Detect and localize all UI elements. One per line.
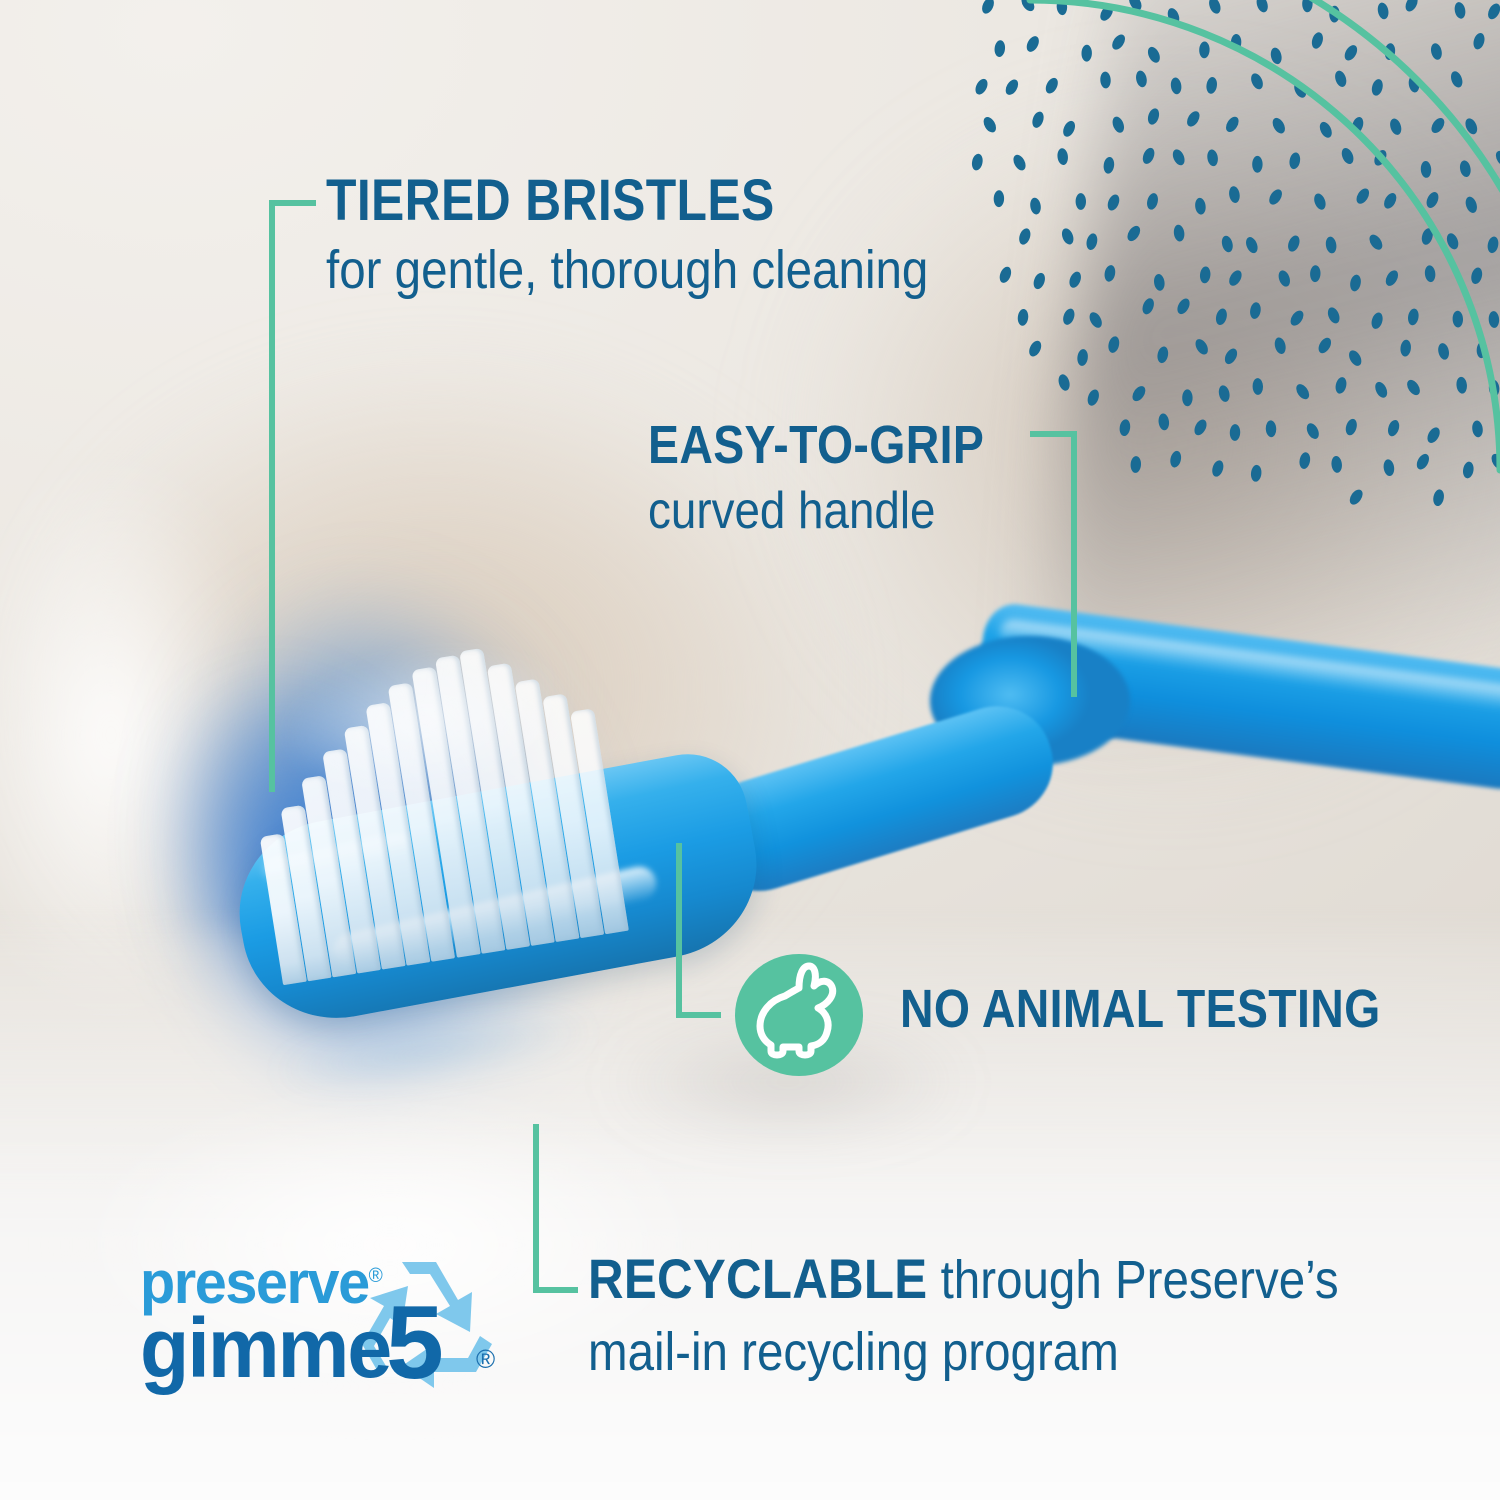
decorative-dot xyxy=(1265,420,1276,437)
decorative-dot xyxy=(1325,236,1338,254)
decorative-dot xyxy=(1310,265,1321,282)
recyclable-rest: through Preserve’s xyxy=(927,1250,1338,1310)
decorative-dot xyxy=(1003,77,1021,97)
decorative-dot xyxy=(1184,109,1202,129)
callout-subline: curved handle xyxy=(648,484,992,539)
logo-registered-top: ® xyxy=(369,1265,382,1287)
decorative-dot xyxy=(1061,119,1078,139)
decorative-dot xyxy=(1334,376,1348,395)
decorative-dot xyxy=(1404,378,1422,398)
decorative-dot xyxy=(1424,265,1436,283)
decorative-dot xyxy=(1119,419,1132,437)
logo-registered-bottom: ® xyxy=(476,1344,495,1375)
recyclable-line-2: mail-in recycling program xyxy=(588,1321,1339,1383)
decorative-dot xyxy=(1222,346,1239,366)
decorative-dot xyxy=(1076,193,1087,210)
decorative-dot xyxy=(1429,42,1443,61)
decorative-dot xyxy=(1110,32,1128,52)
decorative-dot xyxy=(1199,266,1211,284)
decorative-dot xyxy=(1017,309,1029,327)
decorative-dot xyxy=(1342,43,1360,63)
decorative-dot xyxy=(1344,418,1359,437)
decorative-dot xyxy=(1229,424,1240,441)
decorative-dot xyxy=(1206,149,1219,167)
decorative-dot xyxy=(1057,373,1072,392)
decorative-dot xyxy=(1403,0,1420,13)
decorative-dot xyxy=(1170,77,1183,95)
decorative-dot xyxy=(1288,308,1306,328)
decorative-dot xyxy=(1437,342,1451,361)
decorative-dot xyxy=(1227,268,1245,288)
decorative-dot xyxy=(1326,306,1342,326)
decorative-dot xyxy=(1145,192,1159,211)
decorative-dot xyxy=(1207,0,1223,15)
decorative-dot xyxy=(1043,76,1060,96)
decorative-dot xyxy=(1205,76,1218,94)
callout-subline: for gentle, thorough cleaning xyxy=(326,242,928,299)
decorative-dot xyxy=(1373,380,1390,400)
decorative-dot xyxy=(1249,301,1262,319)
callout-headline: EASY-TO-GRIP xyxy=(648,418,984,472)
decorative-dot xyxy=(1449,70,1465,89)
decorative-dot xyxy=(1462,461,1475,479)
decorative-dot xyxy=(1060,227,1076,246)
decorative-dot xyxy=(994,40,1006,58)
callout-no-animal-testing: NO ANIMAL TESTING xyxy=(900,982,1459,1036)
decorative-dot xyxy=(1383,268,1400,288)
callout-easy-to-grip: EASY-TO-GRIP curved handle xyxy=(648,418,1039,539)
decorative-dot xyxy=(980,0,996,16)
decorative-dot xyxy=(1169,450,1183,469)
decorative-dot xyxy=(1302,0,1313,12)
decorative-dot xyxy=(1158,413,1170,431)
decorative-dot xyxy=(1331,455,1343,473)
decorative-dot xyxy=(1017,227,1032,246)
product-infographic: TIERED BRISTLES for gentle, thorough cle… xyxy=(0,0,1500,1500)
decorative-dot xyxy=(1175,296,1192,316)
logo-numeral-five: 5 xyxy=(386,1284,444,1403)
decorative-dot xyxy=(1027,339,1044,359)
decorative-dot xyxy=(1382,191,1399,211)
decorative-dot xyxy=(1432,488,1445,506)
decorative-dot xyxy=(1141,146,1157,166)
decorative-dot xyxy=(1173,224,1186,242)
decorative-dot xyxy=(1024,34,1041,54)
decorative-dot xyxy=(1081,45,1092,62)
decorative-dot xyxy=(1493,149,1500,169)
decorative-dot xyxy=(1472,32,1487,51)
decorative-dot xyxy=(1130,456,1141,473)
decorative-dot xyxy=(1255,0,1270,14)
decorative-dot xyxy=(1087,310,1104,330)
callout-headline: NO ANIMAL TESTING xyxy=(900,982,1381,1036)
decorative-dot xyxy=(1252,156,1262,173)
decorative-dot xyxy=(971,153,984,172)
decorative-dot xyxy=(1110,115,1126,134)
decorative-dot xyxy=(1217,384,1231,403)
decorative-dot xyxy=(1252,378,1263,395)
decorative-dot xyxy=(1333,69,1348,88)
decorative-dot xyxy=(1103,156,1116,174)
decorative-dot xyxy=(1086,388,1101,407)
decorative-dot xyxy=(1347,487,1365,507)
decorative-dot xyxy=(1456,376,1468,394)
decorative-dot xyxy=(1029,197,1042,215)
decorative-dot xyxy=(1182,389,1192,406)
decorative-dot xyxy=(1277,269,1293,288)
decorative-dot xyxy=(1106,193,1122,212)
decorative-dot xyxy=(1085,232,1099,251)
decorative-dot xyxy=(1156,346,1169,365)
callout-recyclable: RECYCLABLE through Preserve’s mail-in re… xyxy=(588,1246,1441,1383)
decorative-dot xyxy=(1317,120,1334,140)
decorative-dot xyxy=(1414,452,1431,472)
decorative-dot xyxy=(1429,116,1447,136)
decorative-dot xyxy=(1107,335,1121,354)
decorative-dot xyxy=(1067,270,1083,289)
decorative-dot xyxy=(1153,273,1166,291)
decorative-dot xyxy=(1030,110,1045,129)
decorative-dot xyxy=(1488,311,1499,328)
decorative-dot xyxy=(1424,190,1441,210)
decorative-dot xyxy=(1294,382,1312,402)
decorative-dot xyxy=(1288,152,1301,170)
decorative-dot xyxy=(1210,459,1225,478)
decorative-dot xyxy=(1125,224,1143,244)
recyclable-line-1: RECYCLABLE through Preserve’s xyxy=(588,1246,1339,1311)
decorative-dot xyxy=(1140,297,1156,316)
decorative-dot xyxy=(1270,116,1287,136)
decorative-dot xyxy=(1193,337,1210,357)
decorative-dot xyxy=(1370,311,1385,330)
callout-tiered-bristles: TIERED BRISTLES for gentle, thorough cle… xyxy=(326,172,1011,299)
decorative-dot xyxy=(1339,146,1355,166)
decorative-dot xyxy=(1194,197,1206,215)
decorative-dot xyxy=(1273,336,1287,355)
decorative-dot xyxy=(1214,307,1228,326)
decorative-dot xyxy=(1376,2,1390,21)
decorative-dot xyxy=(1471,420,1484,438)
decorative-dot xyxy=(1032,271,1047,290)
decorative-dot xyxy=(1354,186,1372,206)
decorative-dot xyxy=(1420,161,1431,178)
decorative-dot xyxy=(1486,236,1499,255)
decorative-dot xyxy=(1220,235,1234,254)
toothbrush-reflection xyxy=(224,984,756,1175)
decorative-dot xyxy=(1286,234,1302,253)
decorative-dot xyxy=(1470,266,1484,285)
decorative-dot xyxy=(1061,307,1076,326)
decorative-dot xyxy=(1464,195,1479,214)
decorative-dot xyxy=(1304,421,1321,441)
decorative-dot xyxy=(1386,418,1401,437)
decorative-dot xyxy=(1316,336,1334,356)
decorative-dot xyxy=(1453,1,1466,19)
decorative-dot xyxy=(1407,308,1420,326)
decorative-dot xyxy=(1171,148,1187,168)
decorative-dot xyxy=(1383,459,1396,477)
decorative-dot xyxy=(1100,71,1111,88)
decorative-dot xyxy=(1199,41,1210,58)
decorative-dot xyxy=(1146,107,1161,126)
decorative-dot xyxy=(981,115,998,135)
decorative-dot xyxy=(1347,348,1364,368)
decorative-dot xyxy=(1057,148,1069,166)
decorative-dot xyxy=(1103,264,1116,282)
decorative-dot xyxy=(1310,31,1325,50)
decorative-dot xyxy=(1146,45,1163,65)
callout-headline: TIERED BRISTLES xyxy=(326,172,915,230)
decorative-dot xyxy=(1370,78,1384,97)
preserve-gimme5-logo: preserve® gimme 5 ® xyxy=(140,1248,512,1396)
decorative-dot xyxy=(973,77,990,97)
decorative-dot xyxy=(1269,47,1283,66)
rabbit-icon xyxy=(733,952,865,1078)
decorative-dot xyxy=(1298,451,1311,469)
decorative-dot xyxy=(1312,192,1328,211)
decorative-dot xyxy=(1192,418,1209,438)
decorative-dot xyxy=(1367,232,1385,252)
decorative-dot xyxy=(1011,153,1028,173)
decorative-dot xyxy=(1388,117,1403,136)
decorative-dot xyxy=(1349,274,1362,292)
decorative-dot xyxy=(1130,384,1148,404)
decorative-dot xyxy=(1249,72,1265,92)
decorative-dot xyxy=(1425,425,1442,445)
decorative-dot xyxy=(1452,311,1463,328)
recyclable-bold-word: RECYCLABLE xyxy=(588,1247,927,1310)
decorative-dot xyxy=(1228,185,1241,203)
decorative-dot xyxy=(1400,339,1412,357)
decorative-dot xyxy=(1486,2,1500,22)
decorative-dot xyxy=(1244,235,1260,254)
decorative-dot xyxy=(1267,187,1285,207)
logo-word-gimme: gimme xyxy=(140,1300,390,1397)
decorative-dot xyxy=(1250,464,1262,482)
decorative-dot xyxy=(1223,115,1241,135)
decorative-dot xyxy=(1459,159,1472,177)
decorative-dot xyxy=(1076,349,1088,367)
decorative-dot xyxy=(1135,70,1149,89)
